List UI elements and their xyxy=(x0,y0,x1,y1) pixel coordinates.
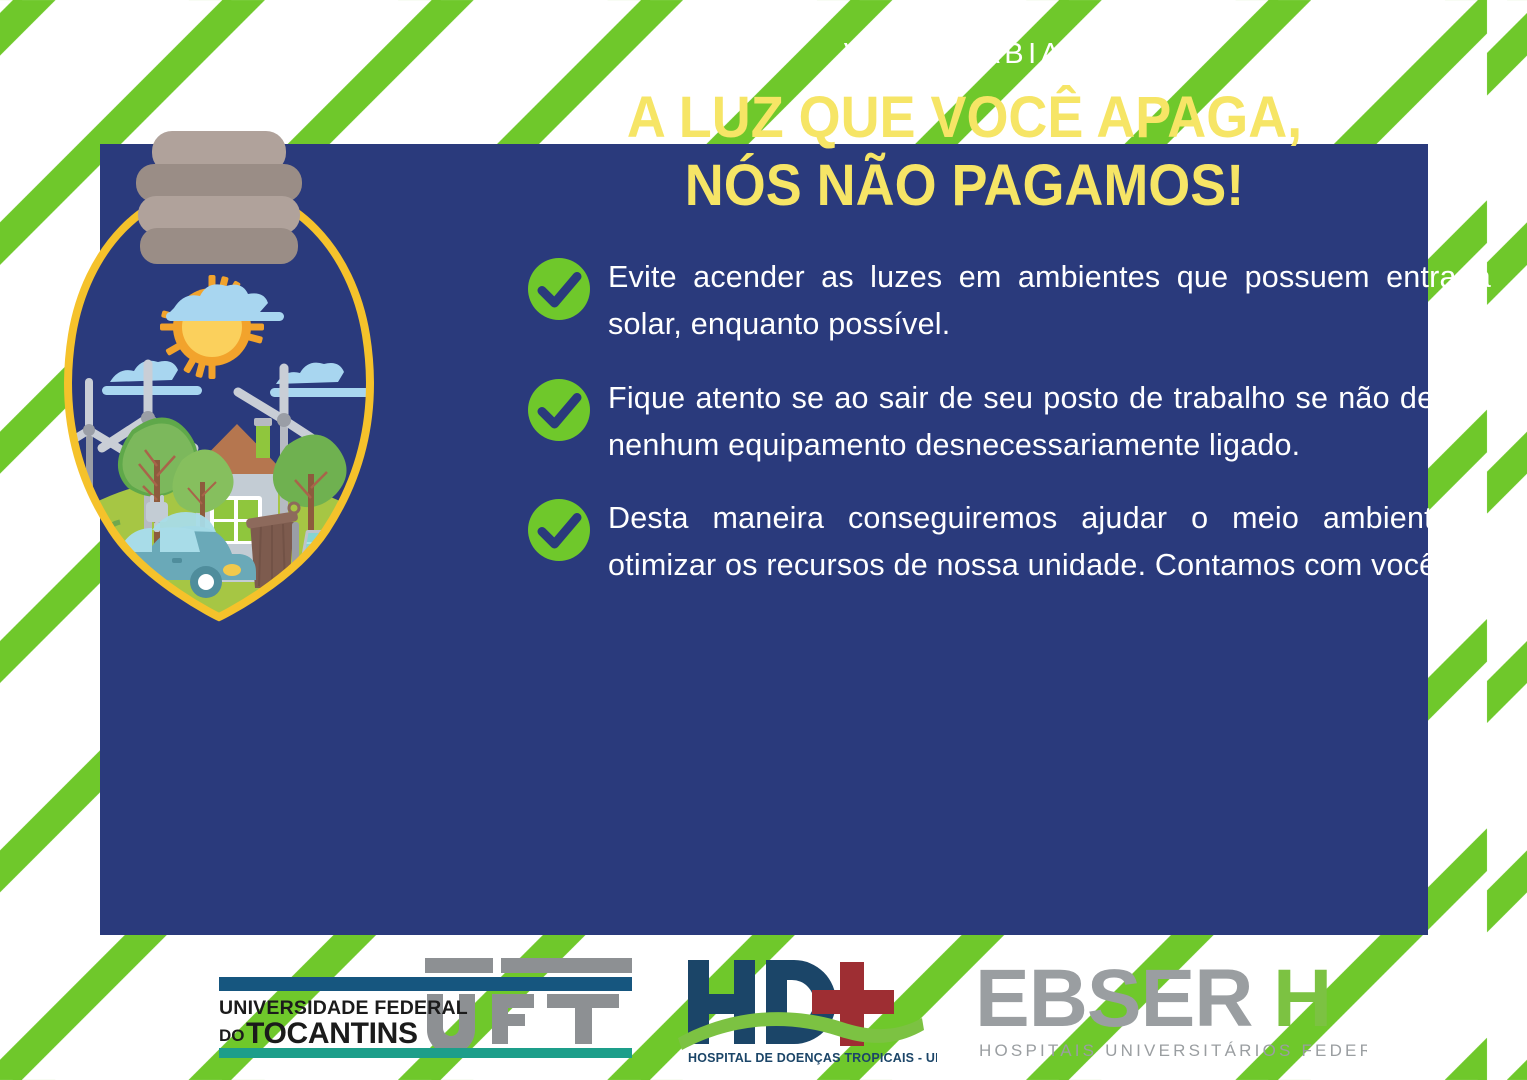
tips-list: Evite acender as luzes em ambientes que … xyxy=(528,254,1491,616)
lightbulb-eco-scene-illustration xyxy=(24,130,414,690)
list-item-text: Fique atento se ao sair de seu posto de … xyxy=(608,375,1491,470)
ebserh-logo: EBSER H HOSPITAIS UNIVERSITÁRIOS FEDERAI… xyxy=(975,958,1367,1062)
list-item: Fique atento se ao sair de seu posto de … xyxy=(528,375,1491,470)
headline-line-1: A LUZ QUE VOCÊ APAGA, xyxy=(467,84,1461,152)
hdt-logo: HOSPITAL DE DOENÇAS TROPICAIS - UFT xyxy=(672,952,937,1066)
list-item-text: Evite acender as luzes em ambientes que … xyxy=(608,254,1491,349)
check-circle-icon xyxy=(528,499,590,561)
ebserh-mark-gray: EBSER xyxy=(975,958,1253,1044)
text-content-column: VOCÊ SABIA? A LUZ QUE VOCÊ APAGA, NÓS NÃ… xyxy=(430,0,1527,1080)
check-circle-icon xyxy=(528,258,590,320)
ebserh-subtitle: HOSPITAIS UNIVERSITÁRIOS FEDERAIS xyxy=(979,1041,1367,1060)
bulb-screw-base xyxy=(136,131,302,264)
uft-line2-big: TOCANTINS xyxy=(246,1017,418,1050)
footer-logo-bar: UNIVERSIDADE FEDERAL DO TOCANTINS HOSP xyxy=(0,946,1527,1076)
ebserh-mark-green: H xyxy=(1273,958,1331,1044)
uft-line1: UNIVERSIDADE FEDERAL xyxy=(219,997,468,1019)
poster-root: VOCÊ SABIA? A LUZ QUE VOCÊ APAGA, NÓS NÃ… xyxy=(0,0,1527,1080)
list-item-text: Desta maneira conseguiremos ajudar o mei… xyxy=(608,495,1491,590)
kicker-label: VOCÊ SABIA? xyxy=(430,38,1499,71)
headline-line-2: NÓS NÃO PAGAMOS! xyxy=(467,152,1461,220)
check-circle-icon xyxy=(528,379,590,441)
solar-panel-left xyxy=(300,530,362,593)
page-title: A LUZ QUE VOCÊ APAGA, NÓS NÃO PAGAMOS! xyxy=(467,84,1461,220)
hdt-subtitle: HOSPITAL DE DOENÇAS TROPICAIS - UFT xyxy=(688,1051,937,1065)
uft-logo: UNIVERSIDADE FEDERAL DO TOCANTINS xyxy=(207,958,632,1062)
list-item: Evite acender as luzes em ambientes que … xyxy=(528,254,1491,349)
solar-panel-right xyxy=(351,522,414,589)
uft-line2-small: DO xyxy=(219,1026,245,1045)
list-item: Desta maneira conseguiremos ajudar o mei… xyxy=(528,495,1491,590)
